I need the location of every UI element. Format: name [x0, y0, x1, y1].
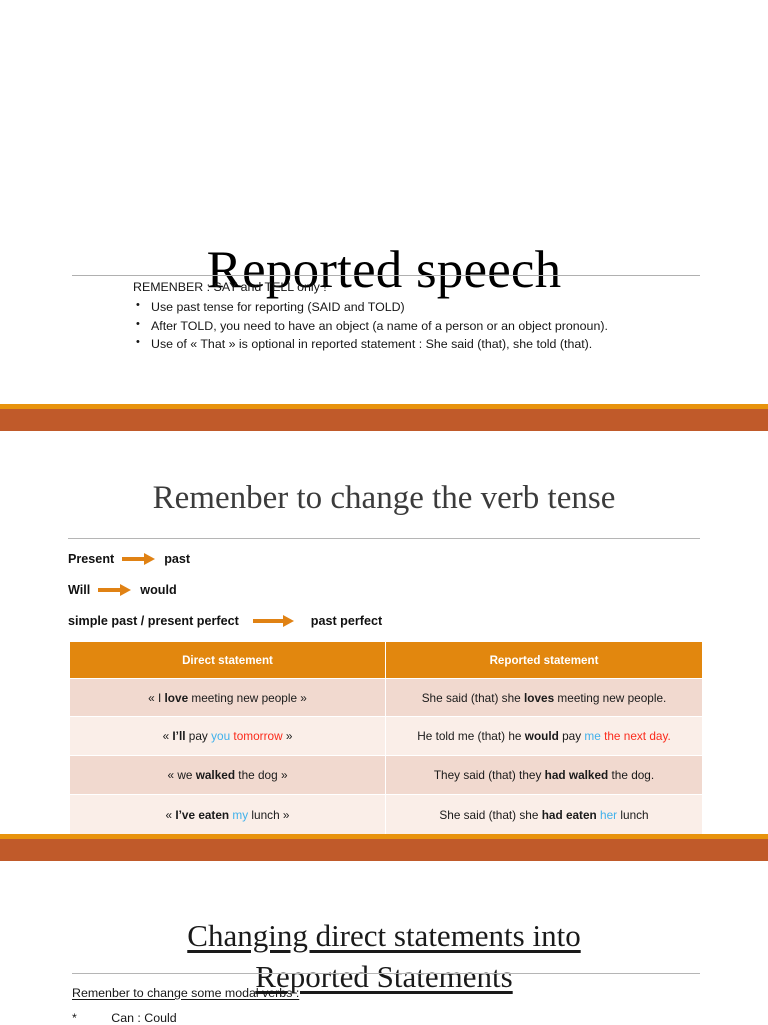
text-run: meeting new people »: [188, 691, 307, 705]
text-run: They said (that) they: [434, 768, 545, 782]
slide3-divider-rule: [72, 973, 700, 974]
slide1-bullet-list: Use past tense for reporting (SAID and T…: [133, 298, 703, 354]
slide1-lead-text: REMENBER : SAY and TELL only !: [133, 278, 703, 297]
table-row: « I’ll pay you tomorrow » He told me (th…: [70, 717, 703, 756]
text-run: me: [584, 729, 600, 743]
text-run: lunch: [617, 808, 648, 822]
table-body: « I love meeting new people » She said (…: [70, 679, 703, 836]
list-item: Use past tense for reporting (SAID and T…: [133, 298, 703, 317]
column-header-reported: Reported statement: [386, 642, 703, 679]
tense-transformation-row: Will would: [68, 574, 708, 605]
cell-reported-statement: She said (that) she had eaten her lunch: [386, 795, 703, 836]
slide-divider-band: [0, 834, 768, 861]
text-run: « we: [167, 768, 195, 782]
table-header-row: Direct statement Reported statement: [70, 642, 703, 679]
arrow-right-icon: [253, 615, 297, 627]
list-item: Use of « That » is optional in reported …: [133, 335, 703, 354]
cell-reported-statement: He told me (that) he would pay me the ne…: [386, 717, 703, 756]
list-item: After TOLD, you need to have an object (…: [133, 317, 703, 336]
slide3-subtitle: Remenber to change some modal verbs :: [72, 986, 299, 1000]
text-run: love: [165, 691, 189, 705]
slide2-divider-rule: [68, 538, 700, 539]
text-run: »: [283, 729, 293, 743]
text-run: She said (that) she: [422, 691, 524, 705]
slide-reported-speech: Reported speech REMENBER : SAY and TELL …: [0, 0, 768, 405]
arrow-right-icon: [98, 584, 132, 596]
text-run: her: [600, 808, 617, 822]
cell-reported-statement: She said (that) she loves meeting new pe…: [386, 679, 703, 717]
slide2-title: Remenber to change the verb tense: [0, 477, 768, 519]
tense-from-label: Will: [68, 583, 90, 597]
text-run: She said (that) she: [439, 808, 541, 822]
text-run: meeting new people.: [554, 691, 666, 705]
tense-from-label: Present: [68, 552, 114, 566]
text-run: He told me (that) he: [417, 729, 525, 743]
text-run: «: [166, 808, 176, 822]
slide3-title-line-1: Changing direct statements into: [187, 918, 580, 953]
text-run: the next day.: [604, 729, 671, 743]
tense-transformation-list: Present past Will would simple past / pr…: [68, 543, 708, 636]
slide-verb-tense: Remenber to change the verb tense Presen…: [0, 431, 768, 834]
tense-transformation-row: simple past / present perfect past perfe…: [68, 605, 708, 636]
text-run: the dog.: [608, 768, 654, 782]
tense-transformation-row: Present past: [68, 543, 708, 574]
title-divider-rule: [72, 275, 700, 276]
tense-from-label: simple past / present perfect: [68, 614, 239, 628]
cell-reported-statement: They said (that) they had walked the dog…: [386, 756, 703, 795]
text-run: loves: [524, 691, 554, 705]
slide3-title: Changing direct statements into Reported…: [84, 915, 684, 997]
text-run: my: [232, 808, 248, 822]
text-run: « I: [148, 691, 164, 705]
tense-to-label: would: [140, 583, 176, 597]
direct-vs-reported-table: Direct statement Reported statement « I …: [69, 641, 703, 836]
text-run: pay: [559, 729, 585, 743]
band-main-stripe: [0, 409, 768, 431]
column-header-direct: Direct statement: [70, 642, 386, 679]
tense-to-label: past: [164, 552, 190, 566]
slide1-body: REMENBER : SAY and TELL only ! Use past …: [133, 278, 703, 354]
text-run: I’ll: [172, 729, 185, 743]
modal-verb-item: * Can : Could: [72, 1011, 177, 1025]
text-run: you: [211, 729, 230, 743]
slide-divider-band: [0, 404, 768, 431]
text-run: tomorrow: [233, 729, 282, 743]
text-run: «: [163, 729, 173, 743]
text-run: the dog »: [235, 768, 287, 782]
tense-to-label: past perfect: [311, 614, 382, 628]
text-run: lunch »: [248, 808, 289, 822]
text-run: had eaten: [542, 808, 597, 822]
text-run: walked: [196, 768, 235, 782]
text-run: had walked: [545, 768, 609, 782]
table-row: « I love meeting new people » She said (…: [70, 679, 703, 717]
slide-changing-statements: Changing direct statements into Reported…: [0, 861, 768, 1024]
cell-direct-statement: « I’ve eaten my lunch »: [70, 795, 386, 836]
text-run: pay: [186, 729, 212, 743]
table-row: « we walked the dog » They said (that) t…: [70, 756, 703, 795]
arrow-right-icon: [122, 553, 156, 565]
table-row: « I’ve eaten my lunch » She said (that) …: [70, 795, 703, 836]
cell-direct-statement: « I love meeting new people »: [70, 679, 386, 717]
text-run: would: [525, 729, 559, 743]
cell-direct-statement: « we walked the dog »: [70, 756, 386, 795]
text-run: I’ve eaten: [175, 808, 229, 822]
cell-direct-statement: « I’ll pay you tomorrow »: [70, 717, 386, 756]
band-main-stripe: [0, 839, 768, 861]
